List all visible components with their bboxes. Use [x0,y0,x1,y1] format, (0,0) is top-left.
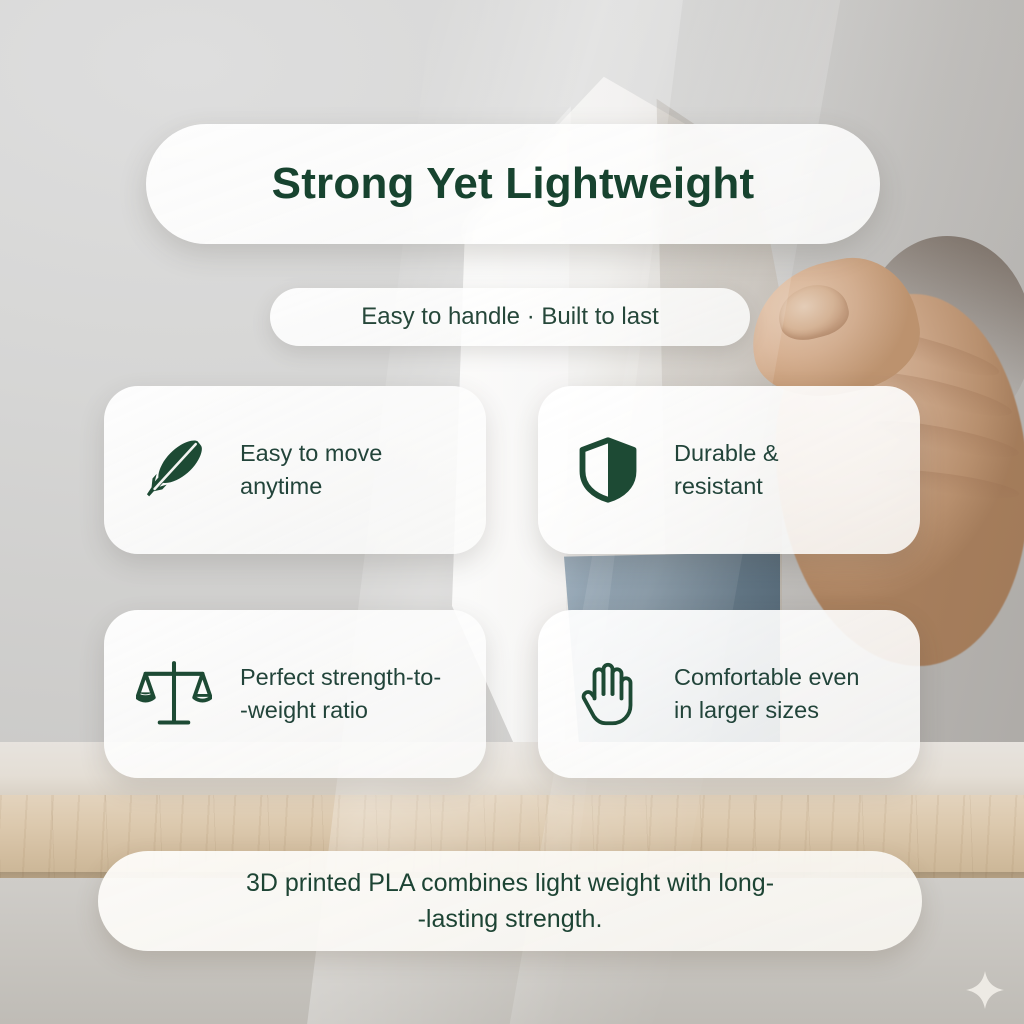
feature-card-strength-to-weight[interactable]: Perfect strength-to- -weight ratio [104,610,486,778]
footer-caption-line2: -lasting strength. [418,905,603,933]
feature-label: Easy to move anytime [240,437,382,504]
shield-icon [562,424,654,516]
feature-label: Durable & resistant [674,437,779,504]
feather-icon [128,424,220,516]
scales-icon [128,648,220,740]
feature-label: Comfortable even in larger sizes [674,661,860,728]
feature-label: Perfect strength-to- -weight ratio [240,661,441,728]
feature-label-line2: in larger sizes [674,694,860,727]
sparkle-icon [963,968,1007,1012]
feature-label-line1: Durable & [674,437,779,470]
feature-card-easy-to-move[interactable]: Easy to move anytime [104,386,486,554]
feature-label-line1: Easy to move [240,437,382,470]
feature-label-line1: Comfortable even [674,661,860,694]
footer-caption-line1: 3D printed PLA combines light weight wit… [246,869,774,897]
footer-caption-pill: 3D printed PLA combines light weight wit… [98,851,922,951]
feature-card-comfortable[interactable]: Comfortable even in larger sizes [538,610,920,778]
footer-caption: 3D printed PLA combines light weight wit… [246,865,774,938]
poster-canvas: Strong Yet Lightweight Easy to handle · … [0,0,1024,1024]
feature-label-line1: Perfect strength-to- [240,661,441,694]
feature-label-line2: anytime [240,470,382,503]
feature-label-line2: resistant [674,470,779,503]
hand-icon [562,648,654,740]
feature-card-durable[interactable]: Durable & resistant [538,386,920,554]
feature-label-line2: -weight ratio [240,694,441,727]
